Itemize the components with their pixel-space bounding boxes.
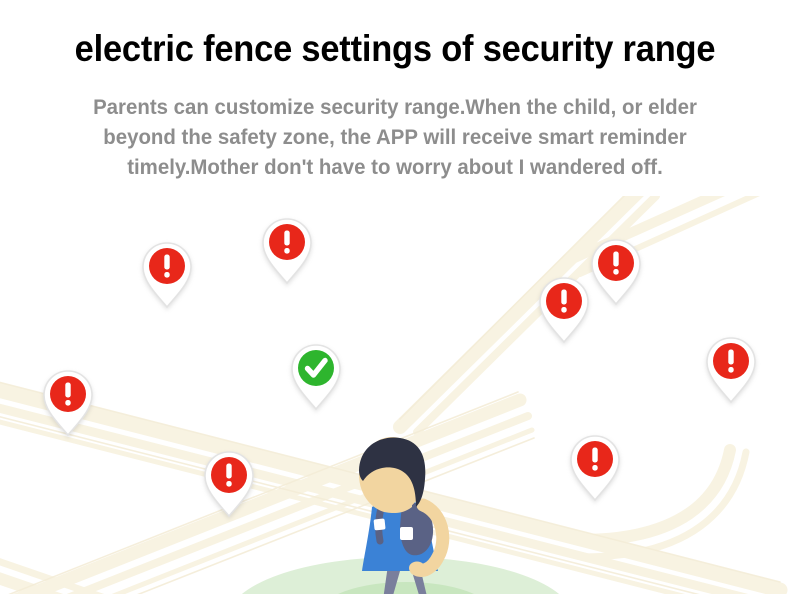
alert-marker-7[interactable]: [704, 335, 758, 405]
backpack-buckle-right: [400, 527, 413, 540]
exclamation-icon: [613, 252, 618, 267]
safe-check-marker[interactable]: [289, 342, 343, 412]
exclamation-icon: [561, 290, 566, 305]
character-hand: [409, 562, 425, 575]
exclamation-icon: [728, 350, 733, 365]
exclamation-icon: [164, 255, 169, 270]
header: electric fence settings of security rang…: [0, 0, 790, 196]
exclamation-icon: [592, 448, 597, 463]
alert-marker-4[interactable]: [202, 449, 256, 519]
alert-marker-2[interactable]: [260, 216, 314, 286]
map-illustration: [0, 190, 790, 594]
alert-marker-1[interactable]: [140, 240, 194, 310]
alert-marker-5[interactable]: [537, 275, 591, 345]
exclamation-icon: [226, 464, 231, 479]
page-subtitle: Parents can customize security range.Whe…: [29, 92, 761, 182]
subtitle-line-1: Parents can customize security range.Whe…: [29, 92, 761, 122]
alert-marker-8[interactable]: [568, 433, 622, 503]
subtitle-line-2: beyond the safety zone, the APP will rec…: [29, 122, 761, 152]
page-title: electric fence settings of security rang…: [28, 28, 763, 70]
page-root: electric fence settings of security rang…: [0, 0, 790, 594]
alert-marker-3[interactable]: [41, 368, 95, 438]
subtitle-line-3: timely.Mother don't have to worry about …: [29, 152, 761, 182]
backpack-buckle-left: [374, 518, 386, 530]
exclamation-icon: [284, 231, 289, 246]
child-character: [330, 437, 470, 594]
exclamation-icon: [65, 383, 70, 398]
alert-marker-6[interactable]: [589, 237, 643, 307]
